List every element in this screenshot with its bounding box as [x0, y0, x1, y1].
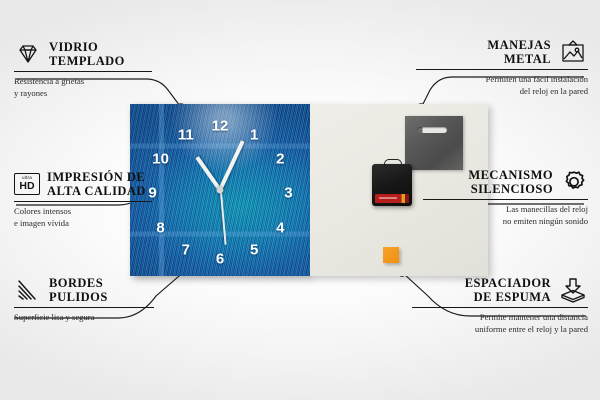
feature-divider — [412, 307, 588, 308]
clock-minute-hand — [217, 140, 244, 192]
feature-divider — [416, 69, 588, 70]
feature-subtitle: Permiten una fácil instalación del reloj… — [416, 74, 588, 97]
clock-numeral: 6 — [216, 251, 224, 266]
feature-divider — [14, 201, 152, 202]
feature-header: VIDRIO TEMPLADO — [14, 40, 166, 68]
feature-title: IMPRESIÓN DE ALTA CALIDAD — [47, 170, 146, 198]
feature-divider — [14, 71, 152, 72]
gear-icon — [560, 169, 588, 195]
feature-title: ESPACIADOR DE ESPUMA — [465, 276, 551, 304]
clock-center-cap — [217, 187, 224, 194]
infographic-canvas: 12 1 2 3 4 5 6 7 8 9 10 11 — [0, 0, 600, 400]
feature-header: MECANISMO SILENCIOSO — [423, 168, 588, 196]
clock-numeral: 4 — [276, 220, 284, 235]
feature-divider — [423, 199, 588, 200]
feature-mecanismo-silencioso: MECANISMO SILENCIOSO Las manecillas del … — [423, 168, 588, 227]
feature-header: BORDES PULIDOS — [14, 276, 166, 304]
clock-numeral: 5 — [250, 243, 258, 258]
clock-second-hand — [220, 187, 227, 245]
feature-subtitle: Superficie lisa y segura — [14, 312, 166, 323]
diamond-icon — [14, 42, 42, 66]
feature-subtitle: Resistencia a grietas y rayones — [14, 76, 166, 99]
clock-numeral: 8 — [156, 220, 164, 235]
feature-title: MANEJAS METAL — [487, 38, 551, 66]
clock-mechanism-box — [372, 164, 412, 206]
feature-divider — [14, 307, 154, 308]
feature-vidrio-templado: VIDRIO TEMPLADO Resistencia a grietas y … — [14, 40, 166, 99]
clock-numeral: 10 — [152, 152, 169, 167]
clock-numeral: 9 — [148, 186, 156, 201]
feature-subtitle: Colores intensos e imagen vívida — [14, 206, 166, 229]
foam-spacer-square — [383, 247, 399, 263]
clock-numeral: 1 — [250, 127, 258, 142]
clock-numeral: 3 — [284, 186, 292, 201]
feature-header: MANEJAS METAL — [416, 38, 588, 66]
clock-numeral: 7 — [182, 243, 190, 258]
feature-espaciador-de-espuma: ESPACIADOR DE ESPUMA Permite mantener un… — [412, 276, 588, 335]
feature-subtitle: Las manecillas del reloj no emiten ningú… — [423, 204, 588, 227]
metal-hanger-plate — [405, 116, 463, 170]
feature-header: ESPACIADOR DE ESPUMA — [412, 276, 588, 304]
down-arrow-pad-icon — [558, 277, 588, 303]
polished-edge-lines-icon — [14, 278, 42, 302]
feature-subtitle: Permite mantener una distancia uniforme … — [412, 312, 588, 335]
hanging-picture-frame-icon — [558, 39, 588, 65]
clock-numeral: 12 — [212, 119, 229, 134]
feature-impresion-alta-calidad: ultra HD IMPRESIÓN DE ALTA CALIDAD Color… — [14, 170, 166, 229]
feature-title: BORDES PULIDOS — [49, 276, 108, 304]
ultra-hd-badge-icon: ultra HD — [14, 173, 40, 195]
feature-bordes-pulidos: BORDES PULIDOS Superficie lisa y segura — [14, 276, 166, 324]
feature-title: MECANISMO SILENCIOSO — [468, 168, 553, 196]
clock-numeral: 2 — [276, 152, 284, 167]
battery — [375, 194, 409, 203]
clock-numeral: 11 — [178, 127, 194, 142]
feature-title: VIDRIO TEMPLADO — [49, 40, 125, 68]
feature-header: ultra HD IMPRESIÓN DE ALTA CALIDAD — [14, 170, 166, 198]
feature-manejas-metal: MANEJAS METAL Permiten una fácil instala… — [416, 38, 588, 97]
